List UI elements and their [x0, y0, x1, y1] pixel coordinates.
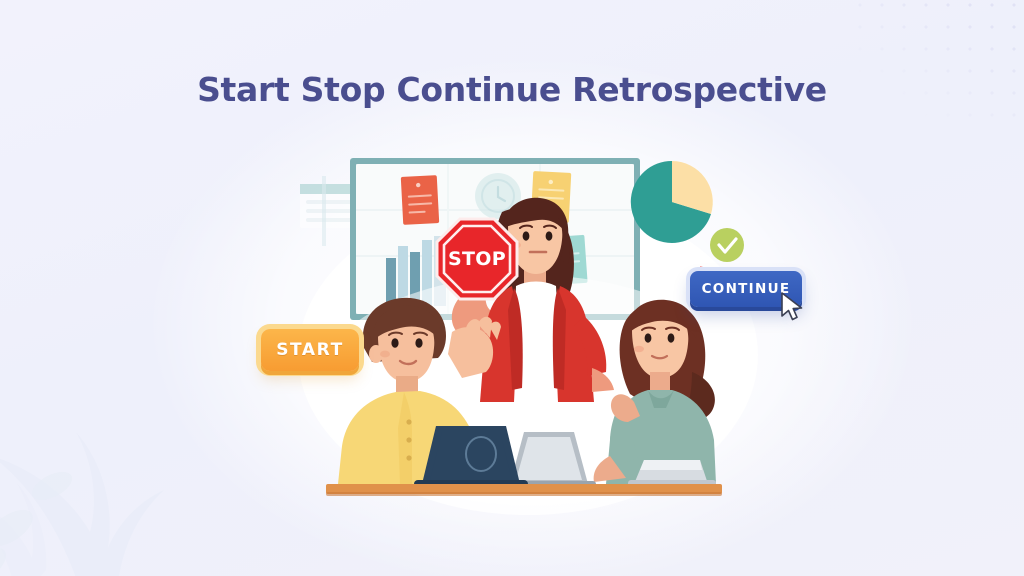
stop-sign-badge[interactable]: STOP [435, 217, 519, 301]
page-title: Start Stop Continue Retrospective [0, 70, 1024, 109]
mouse-cursor-icon [779, 291, 805, 323]
sticky-note-red [401, 175, 439, 225]
pie-chart [631, 161, 713, 243]
illustration-team-retrospective [240, 140, 810, 510]
check-circle-icon [710, 228, 744, 262]
start-badge[interactable]: START [261, 329, 359, 371]
dot-grid-decoration [849, 0, 1024, 129]
desk-surface [326, 484, 722, 496]
leaf-decoration-icon [0, 352, 196, 576]
screenshot-canvas: Start Stop Continue Retrospective [0, 0, 1024, 576]
